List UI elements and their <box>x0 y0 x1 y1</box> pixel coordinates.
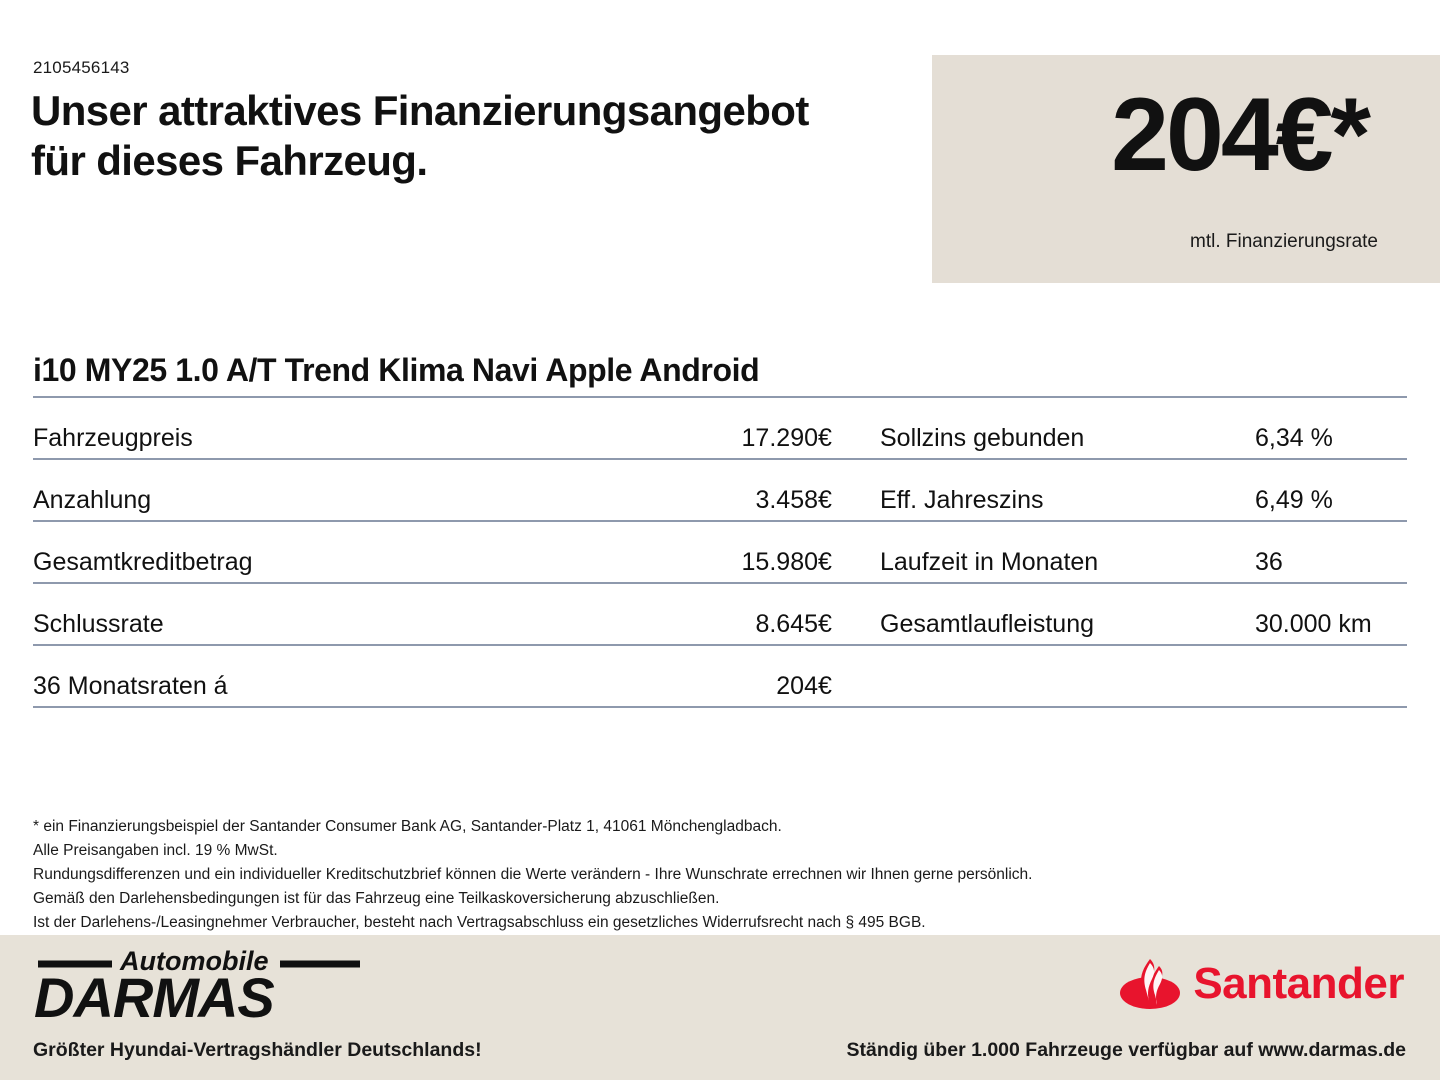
santander-flame-icon <box>1119 957 1181 1011</box>
spec-label-secondary: Laufzeit in Monaten <box>880 521 1255 583</box>
table-row: Gesamtkreditbetrag 15.980 € Laufzeit in … <box>33 521 1407 583</box>
santander-logo[interactable]: Santander <box>1119 957 1404 1011</box>
spec-unit: € <box>818 521 880 583</box>
legal-line-3: Rundungsdifferenzen und ein individuelle… <box>33 863 1032 887</box>
monthly-rate-amount: 204€* <box>1111 83 1368 187</box>
legal-line-4: Gemäß den Darlehensbedingungen ist für d… <box>33 887 1032 911</box>
spec-label: Gesamtkreditbetrag <box>33 521 688 583</box>
spec-value-secondary: 6,34 % <box>1255 398 1407 459</box>
footer-tagline-right[interactable]: Ständig über 1.000 Fahrzeuge verfügbar a… <box>846 1039 1406 1062</box>
spec-value: 15.980 <box>688 521 818 583</box>
spec-unit: € <box>818 398 880 459</box>
footer-bar: Automobile DARMAS Santander Größter Hyun… <box>0 935 1440 1080</box>
spec-unit: € <box>818 645 880 707</box>
spec-label-secondary: Eff. Jahreszins <box>880 459 1255 521</box>
spec-value-secondary: 36 <box>1255 521 1407 583</box>
spec-value-secondary <box>1255 645 1407 707</box>
spec-unit: € <box>818 459 880 521</box>
reference-number: 2105456143 <box>33 58 130 78</box>
santander-wordmark: Santander <box>1193 962 1404 1006</box>
monthly-rate-caption: mtl. Finanzierungsrate <box>1190 231 1378 253</box>
headline-line-2: für dieses Fahrzeug. <box>31 136 911 186</box>
vehicle-title: i10 MY25 1.0 A/T Trend Klima Navi Apple … <box>33 352 1407 398</box>
monthly-rate-badge: 204€* mtl. Finanzierungsrate <box>932 55 1440 283</box>
darmas-logo[interactable]: Automobile DARMAS <box>30 943 370 1021</box>
spec-label: 36 Monatsraten á <box>33 645 688 707</box>
spec-value-secondary: 6,49 % <box>1255 459 1407 521</box>
financing-details: i10 MY25 1.0 A/T Trend Klima Navi Apple … <box>33 352 1407 708</box>
footer-tagline-left: Größter Hyundai-Vertragshändler Deutschl… <box>33 1039 482 1062</box>
financing-offer-page: { "header": { "reference_number": "21054… <box>0 0 1440 1080</box>
legal-line-2: Alle Preisangaben incl. 19 % MwSt. <box>33 839 1032 863</box>
spec-unit: € <box>818 583 880 645</box>
spec-value: 3.458 <box>688 459 818 521</box>
darmas-logo-graphic: Automobile DARMAS <box>30 943 370 1021</box>
spec-label-secondary: Sollzins gebunden <box>880 398 1255 459</box>
spec-label: Anzahlung <box>33 459 688 521</box>
darmas-logo-main-word: DARMAS <box>34 966 274 1021</box>
spec-label: Schlussrate <box>33 583 688 645</box>
spec-label-secondary: Gesamtlaufleistung <box>880 583 1255 645</box>
spec-value-secondary: 30.000 km <box>1255 583 1407 645</box>
spec-value: 8.645 <box>688 583 818 645</box>
legal-disclaimer: * ein Finanzierungsbeispiel der Santande… <box>33 815 1032 935</box>
spec-value: 17.290 <box>688 398 818 459</box>
table-row: Fahrzeugpreis 17.290 € Sollzins gebunden… <box>33 398 1407 459</box>
table-row: 36 Monatsraten á 204 € <box>33 645 1407 707</box>
header-section: 2105456143 Unser attraktives Finanzierun… <box>0 0 1440 330</box>
legal-line-1: * ein Finanzierungsbeispiel der Santande… <box>33 815 1032 839</box>
specs-table: Fahrzeugpreis 17.290 € Sollzins gebunden… <box>33 398 1407 708</box>
spec-label-secondary <box>880 645 1255 707</box>
page-title: Unser attraktives Finanzierungsangebot f… <box>31 86 911 185</box>
table-row: Anzahlung 3.458 € Eff. Jahreszins 6,49 % <box>33 459 1407 521</box>
legal-line-5: Ist der Darlehens-/Leasingnehmer Verbrau… <box>33 911 1032 935</box>
spec-value: 204 <box>688 645 818 707</box>
spec-label: Fahrzeugpreis <box>33 398 688 459</box>
table-row: Schlussrate 8.645 € Gesamtlaufleistung 3… <box>33 583 1407 645</box>
headline-line-1: Unser attraktives Finanzierungsangebot <box>31 86 911 136</box>
